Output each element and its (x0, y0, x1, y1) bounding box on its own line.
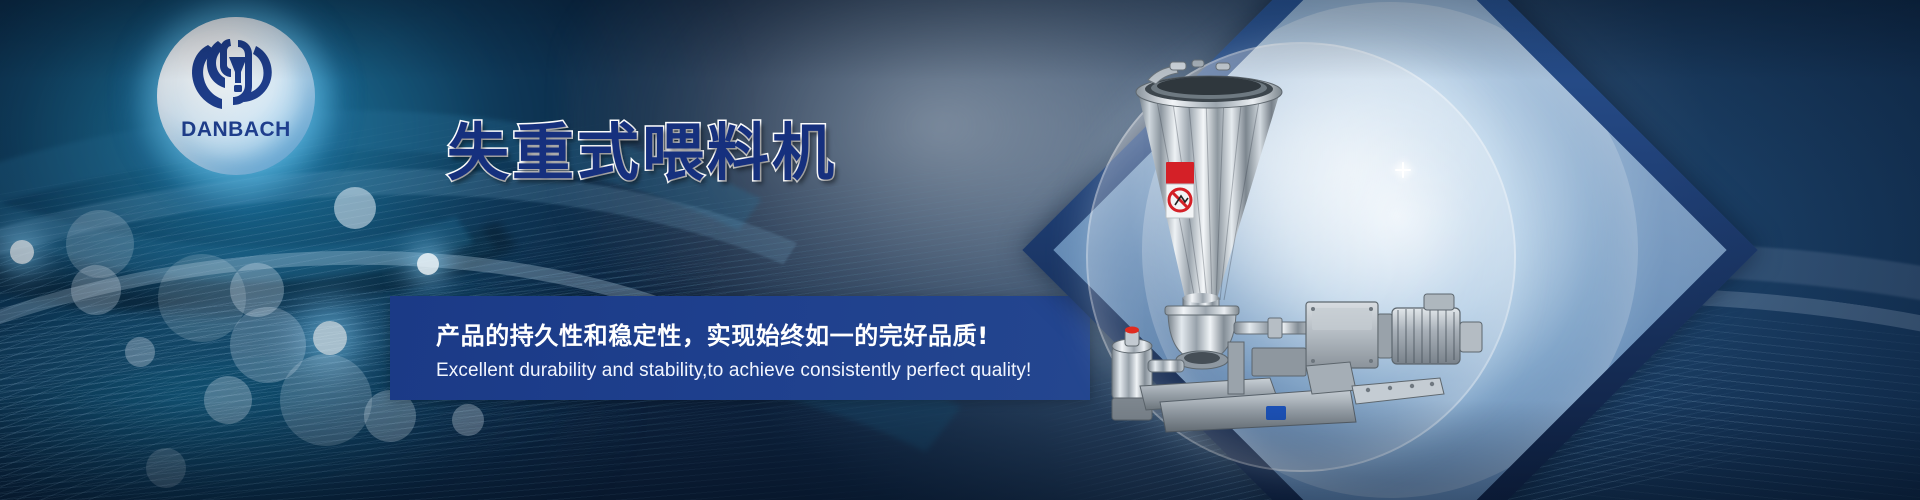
danbach-mark-icon (184, 39, 288, 117)
bokeh-circle (125, 337, 155, 367)
tagline-box: 产品的持久性和稳定性，实现始终如一的完好品质! Excellent durabi… (390, 296, 1090, 400)
bokeh-circle (71, 265, 121, 315)
bokeh-circle (204, 376, 252, 424)
tagline-chinese: 产品的持久性和稳定性，实现始终如一的完好品质! (436, 316, 989, 351)
bokeh-circle (146, 448, 186, 488)
bokeh-circle (313, 321, 347, 355)
bokeh-circle (66, 210, 134, 278)
bokeh-circle (230, 263, 284, 317)
brand-name: DANBACH (157, 118, 315, 142)
diagonal-lines-left (0, 162, 349, 500)
bokeh-circle (230, 307, 306, 383)
bokeh-circle (158, 254, 246, 342)
bokeh-circle (10, 240, 34, 264)
bokeh-circle (452, 404, 484, 436)
page-title: 失重式喂料机 (447, 122, 837, 184)
brand-logo[interactable]: DANBACH (157, 17, 315, 175)
bokeh-circle (417, 253, 439, 275)
product-banner: DANBACH 失重式喂料机 产品的持久性和稳定性，实现始终如一的完好品质! E… (0, 0, 1920, 500)
tagline-english: Excellent durability and stability,to ac… (436, 360, 1031, 382)
bokeh-circle (334, 187, 376, 229)
product-image-loss-in-weight-feeder (1020, 30, 1500, 450)
bokeh-circle (280, 354, 372, 446)
